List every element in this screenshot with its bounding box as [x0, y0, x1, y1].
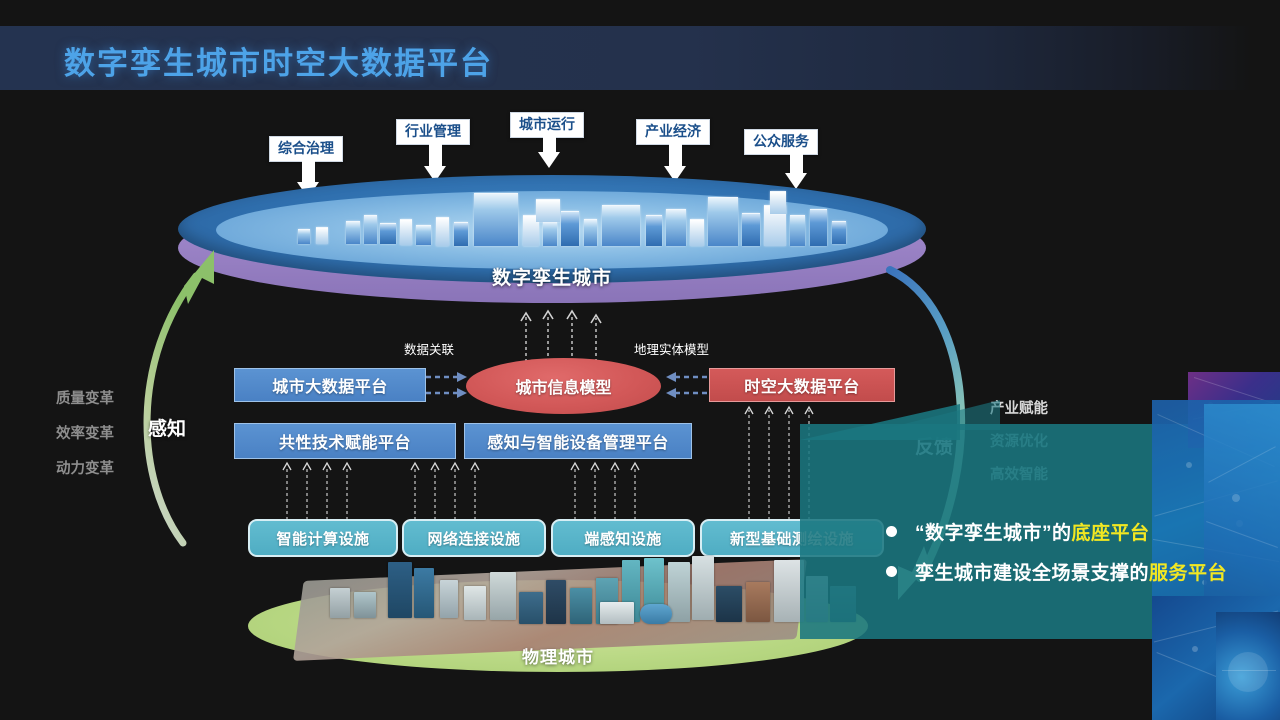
- physical-building: [440, 580, 458, 618]
- left-benefit-2: 效率变革: [56, 422, 114, 443]
- callout-shaft-4: [669, 143, 682, 168]
- bullet-dot-icon: [886, 526, 897, 537]
- perceive-label: 感知: [148, 414, 186, 441]
- physical-building: [716, 586, 742, 622]
- data-relation-label: 数据关联: [404, 339, 454, 358]
- callout-shaft-2: [429, 143, 442, 168]
- physical-building: [746, 582, 770, 622]
- physical-building: [600, 602, 634, 624]
- platform-spatiotemporal-big-data[interactable]: 时空大数据平台: [709, 368, 895, 402]
- infra-box-1[interactable]: 智能计算设施: [248, 519, 398, 557]
- platform-city-info-model[interactable]: 城市信息模型: [466, 358, 661, 414]
- left-benefit-1: 质量变革: [56, 387, 114, 408]
- callout-box-5[interactable]: 公众服务: [744, 129, 818, 155]
- physical-building: [570, 588, 592, 624]
- dashed-arrows-infra-group-1: [282, 458, 352, 520]
- infra-box-3[interactable]: 端感知设施: [551, 519, 695, 557]
- bullet-dot-icon: [886, 566, 897, 577]
- callout-box-2[interactable]: 行业管理: [396, 119, 470, 145]
- bullet-text-1-highlight: 底座平台: [1072, 518, 1150, 545]
- platform-city-big-data[interactable]: 城市大数据平台: [234, 368, 426, 402]
- physical-building: [354, 592, 376, 618]
- platform-common-tech[interactable]: 共性技术赋能平台: [234, 423, 456, 459]
- bullet-text-2-highlight: 服务平台: [1149, 558, 1227, 585]
- infra-box-2[interactable]: 网络连接设施: [402, 519, 546, 557]
- decor-tile-globe: [1216, 612, 1280, 720]
- dashed-arrows-to-disc: [518, 306, 608, 362]
- physical-building: [414, 568, 434, 618]
- physical-building: [692, 556, 714, 620]
- bullet-item-2: 孪生城市建设全场景支撑的 服务平台: [886, 558, 1227, 585]
- callout-box-3[interactable]: 城市运行: [510, 112, 584, 138]
- dashed-connector-left: [426, 370, 470, 402]
- digital-city-disc: 数字孪生城市: [178, 175, 926, 305]
- physical-building: [330, 588, 350, 618]
- dashed-arrows-infra-group-2: [410, 458, 480, 520]
- page-title: 数字孪生城市时空大数据平台: [64, 38, 493, 83]
- callout-box-4[interactable]: 产业经济: [636, 119, 710, 145]
- physical-building: [388, 562, 412, 618]
- callout-arrow-3: [538, 152, 560, 168]
- physical-building: [640, 604, 672, 624]
- digital-city-label: 数字孪生城市: [178, 263, 926, 290]
- physical-city-label: 物理城市: [248, 643, 868, 668]
- physical-building: [464, 586, 486, 620]
- physical-building: [490, 572, 516, 620]
- callout-shaft-5: [790, 153, 803, 175]
- geo-entity-model-label: 地理实体模型: [634, 339, 709, 358]
- callout-box-1[interactable]: 综合治理: [269, 136, 343, 162]
- dashed-arrows-infra-group-3: [570, 458, 640, 520]
- physical-building: [519, 592, 543, 624]
- platform-sensing-device[interactable]: 感知与智能设备管理平台: [464, 423, 692, 459]
- bullet-text-2-prefix: 孪生城市建设全场景支撑的: [915, 558, 1149, 585]
- slide-canvas: 数字孪生城市时空大数据平台 综合治理 行业管理 城市运行 产业经济 公众服务: [0, 0, 1280, 720]
- bullet-item-1: “数字孪生城市”的 底座平台: [886, 518, 1150, 545]
- bullet-text-1-prefix: “数字孪生城市”的: [915, 518, 1072, 545]
- dashed-connector-right: [662, 370, 708, 402]
- left-benefit-3: 动力变革: [56, 457, 114, 478]
- physical-building: [546, 580, 566, 624]
